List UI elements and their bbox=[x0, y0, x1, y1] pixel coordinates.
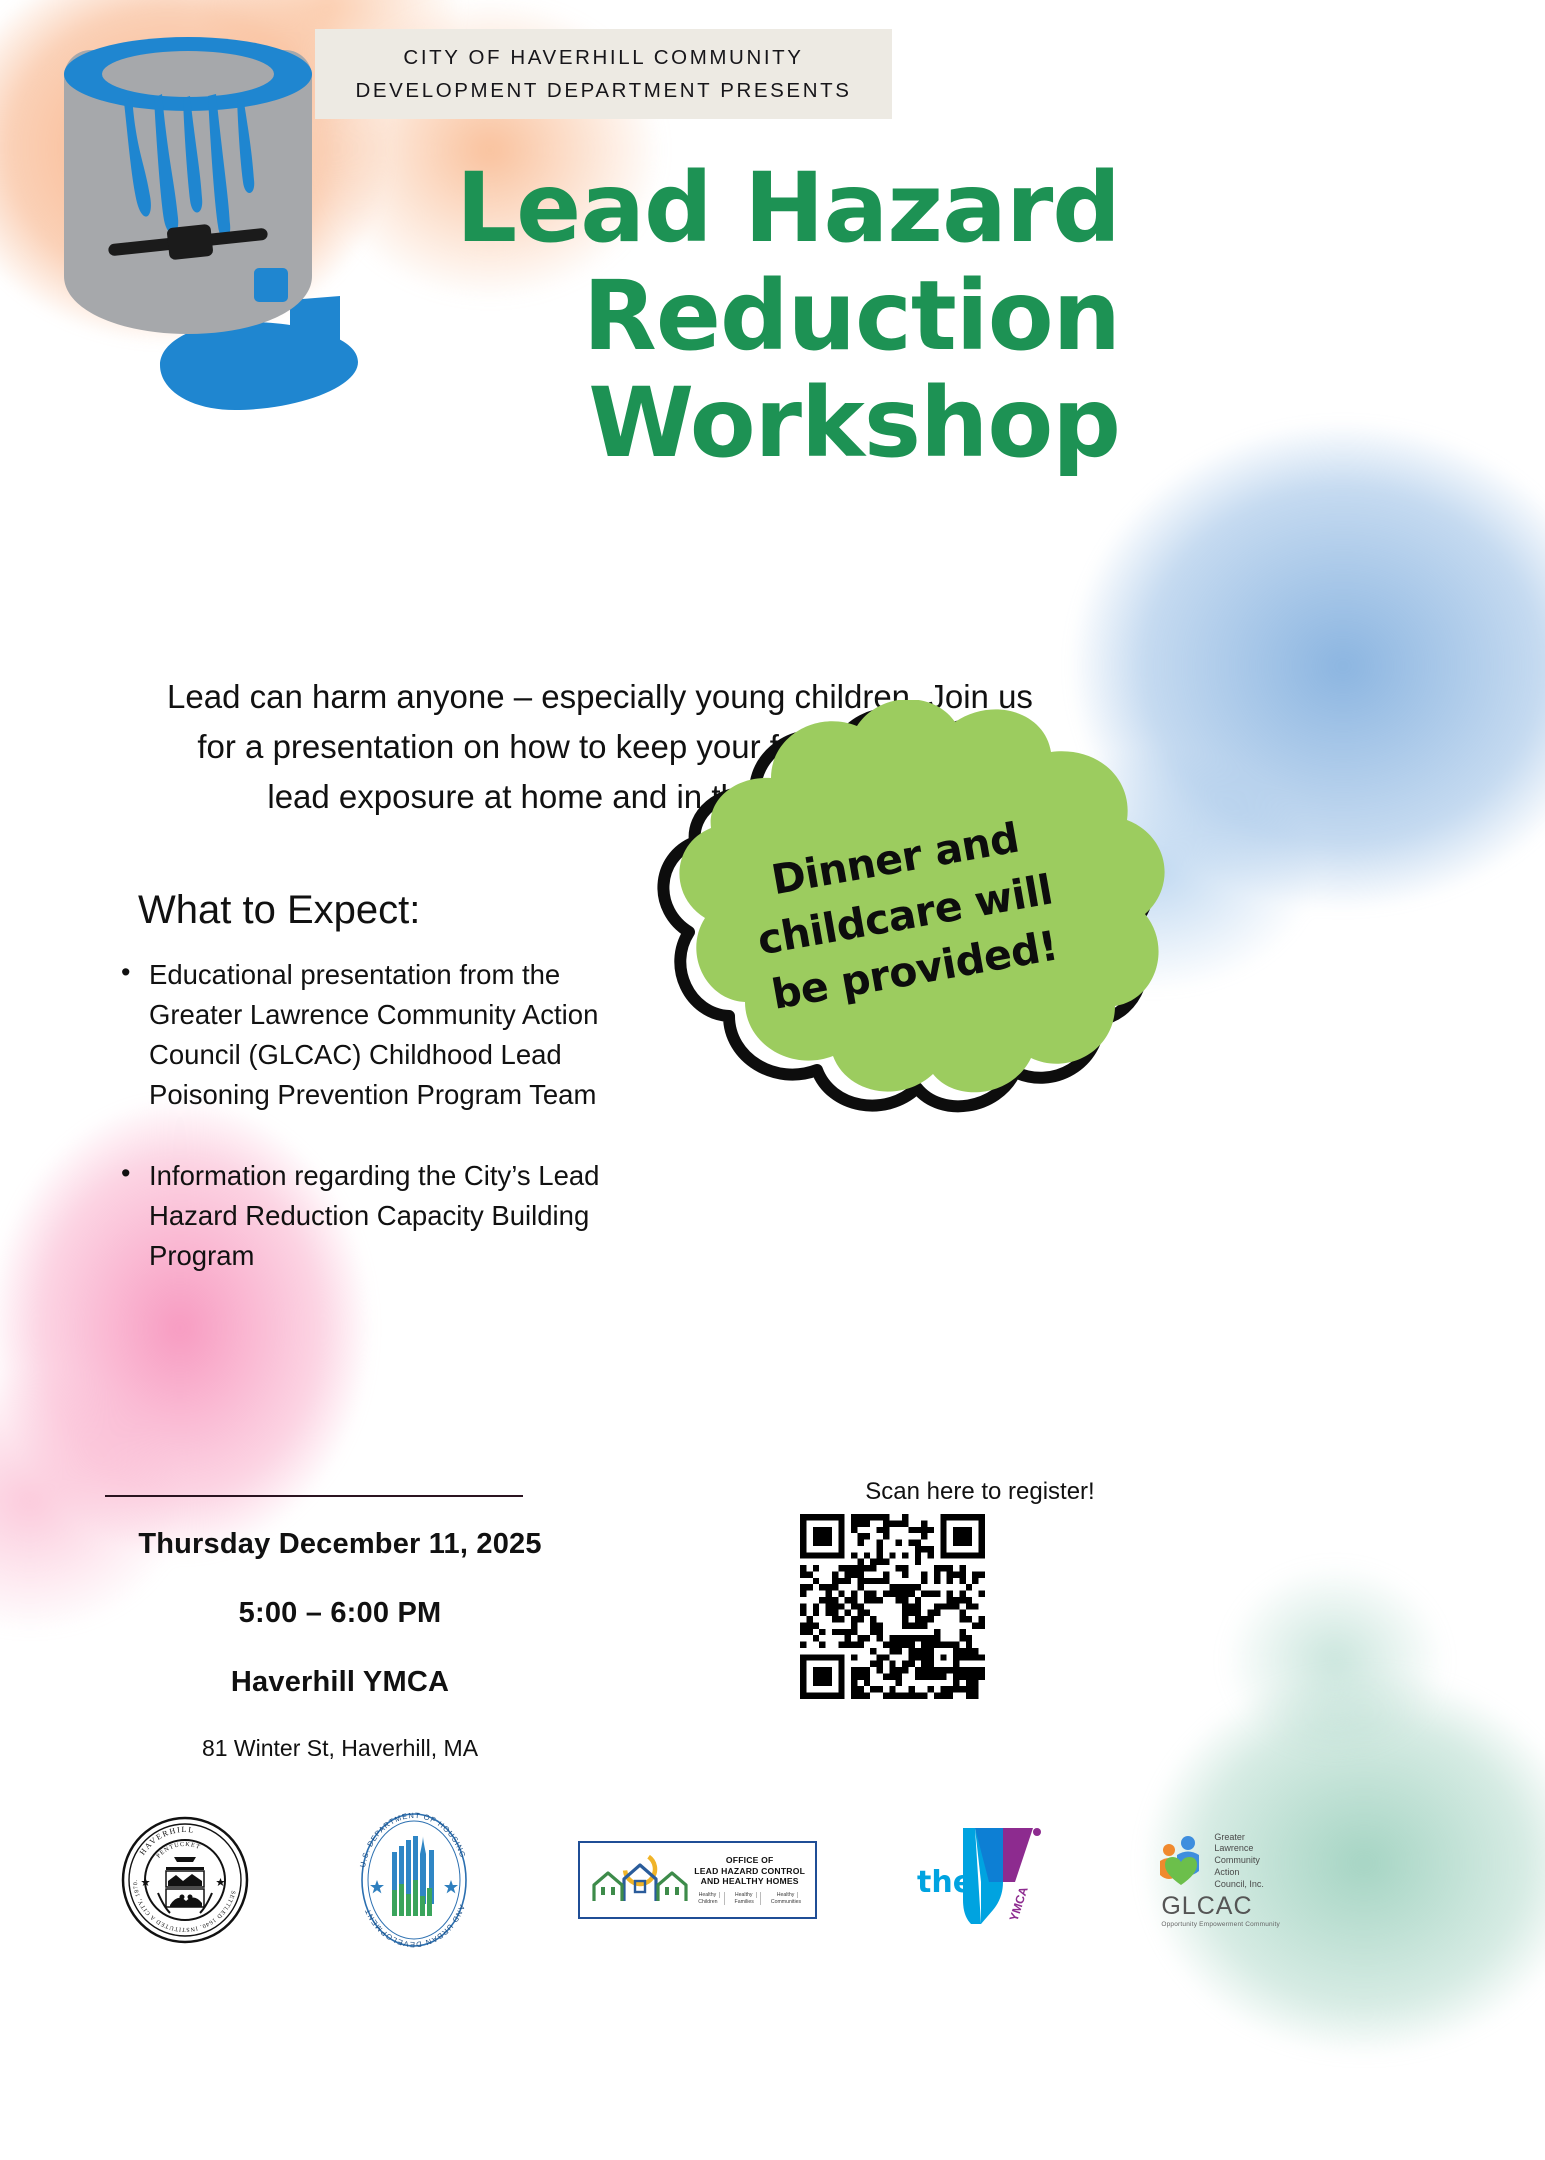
page-title-line-1: Lead Hazard bbox=[420, 155, 1120, 263]
ohh-caption-line-2: LEAD HAZARD CONTROL bbox=[692, 1866, 807, 1877]
logo-office-of-lead-hazard-control: OFFICE OF LEAD HAZARD CONTROL AND HEALTH… bbox=[578, 1841, 817, 1919]
the-y-word-ymca: YMCA bbox=[1007, 1885, 1031, 1923]
event-venue: Haverhill YMCA bbox=[105, 1666, 575, 1699]
details-divider bbox=[105, 1495, 523, 1497]
event-address: 81 Winter St, Haverhill, MA bbox=[105, 1735, 575, 1762]
logo-glcac: Greater Lawrence Community Action Counci… bbox=[1155, 1832, 1280, 1928]
glcac-line-3: Community bbox=[1214, 1855, 1264, 1867]
partner-logo-strip: HAVERHILL PENTUCKET SETTLED 1640. INSTIT… bbox=[120, 1790, 1280, 1970]
presenter-header-band: CITY OF HAVERHILL COMMUNITY DEVELOPMENT … bbox=[315, 29, 892, 119]
glcac-acronym: GLCAC bbox=[1161, 1892, 1252, 1921]
ohh-sub-2a: Healthy bbox=[732, 1892, 757, 1898]
ohh-sub-3a: Healthy bbox=[774, 1892, 799, 1898]
glcac-mark-icon bbox=[1155, 1833, 1207, 1889]
ohh-sub-1b: Children bbox=[695, 1899, 720, 1905]
svg-text:PENTUCKET: PENTUCKET bbox=[155, 1841, 202, 1860]
glcac-tagline: Opportunity Empowerment Community bbox=[1161, 1921, 1280, 1928]
what-to-expect-list: Educational presentation from the Greate… bbox=[115, 955, 635, 1316]
dinner-childcare-callout: Dinner and childcare will be provided! bbox=[615, 700, 1195, 1130]
header-line-1: CITY OF HAVERHILL COMMUNITY bbox=[403, 46, 803, 70]
glcac-line-4: Action bbox=[1214, 1867, 1264, 1879]
page-title-line-2: Reduction bbox=[420, 263, 1120, 371]
logo-the-y-ymca: the YMCA bbox=[911, 1820, 1061, 1940]
list-item: Educational presentation from the Greate… bbox=[149, 955, 635, 1116]
event-time: 5:00 – 6:00 PM bbox=[105, 1597, 575, 1630]
logo-hud-seal: U.S. DEPARTMENT OF HOUSING AND URBAN DEV… bbox=[344, 1810, 484, 1950]
ohh-caption-line-3: AND HEALTHY HOMES bbox=[692, 1876, 807, 1887]
logo-city-of-haverhill-seal: HAVERHILL PENTUCKET SETTLED 1640. INSTIT… bbox=[120, 1815, 250, 1945]
glcac-line-1: Greater bbox=[1214, 1832, 1264, 1844]
glcac-line-2: Lawrence bbox=[1214, 1843, 1264, 1855]
ohh-sub-3b: Communities bbox=[768, 1899, 804, 1905]
watercolor-blob-teal bbox=[1185, 1530, 1485, 1790]
registration-qr-code[interactable] bbox=[800, 1514, 985, 1699]
glcac-line-5: Council, Inc. bbox=[1214, 1879, 1264, 1891]
header-line-2: DEVELOPMENT DEPARTMENT PRESENTS bbox=[355, 79, 851, 103]
ohh-sub-1a: Healthy bbox=[696, 1892, 721, 1898]
what-to-expect-heading: What to Expect: bbox=[138, 888, 420, 933]
svg-text:U.S. DEPARTMENT OF HOUSING: U.S. DEPARTMENT OF HOUSING bbox=[358, 1811, 468, 1868]
event-details: Thursday December 11, 2025 5:00 – 6:00 P… bbox=[105, 1528, 575, 1762]
page-title: Lead Hazard Reduction Workshop bbox=[420, 155, 1120, 478]
ohh-sub-2b: Families bbox=[732, 1899, 757, 1905]
qr-code-image[interactable] bbox=[800, 1514, 985, 1699]
page-title-line-3: Workshop bbox=[420, 370, 1120, 478]
event-date: Thursday December 11, 2025 bbox=[105, 1528, 575, 1561]
ohh-caption-line-1: OFFICE OF bbox=[692, 1855, 807, 1866]
scan-to-register-label: Scan here to register! bbox=[760, 1478, 1200, 1506]
list-item: Information regarding the City’s Lead Ha… bbox=[149, 1156, 635, 1276]
